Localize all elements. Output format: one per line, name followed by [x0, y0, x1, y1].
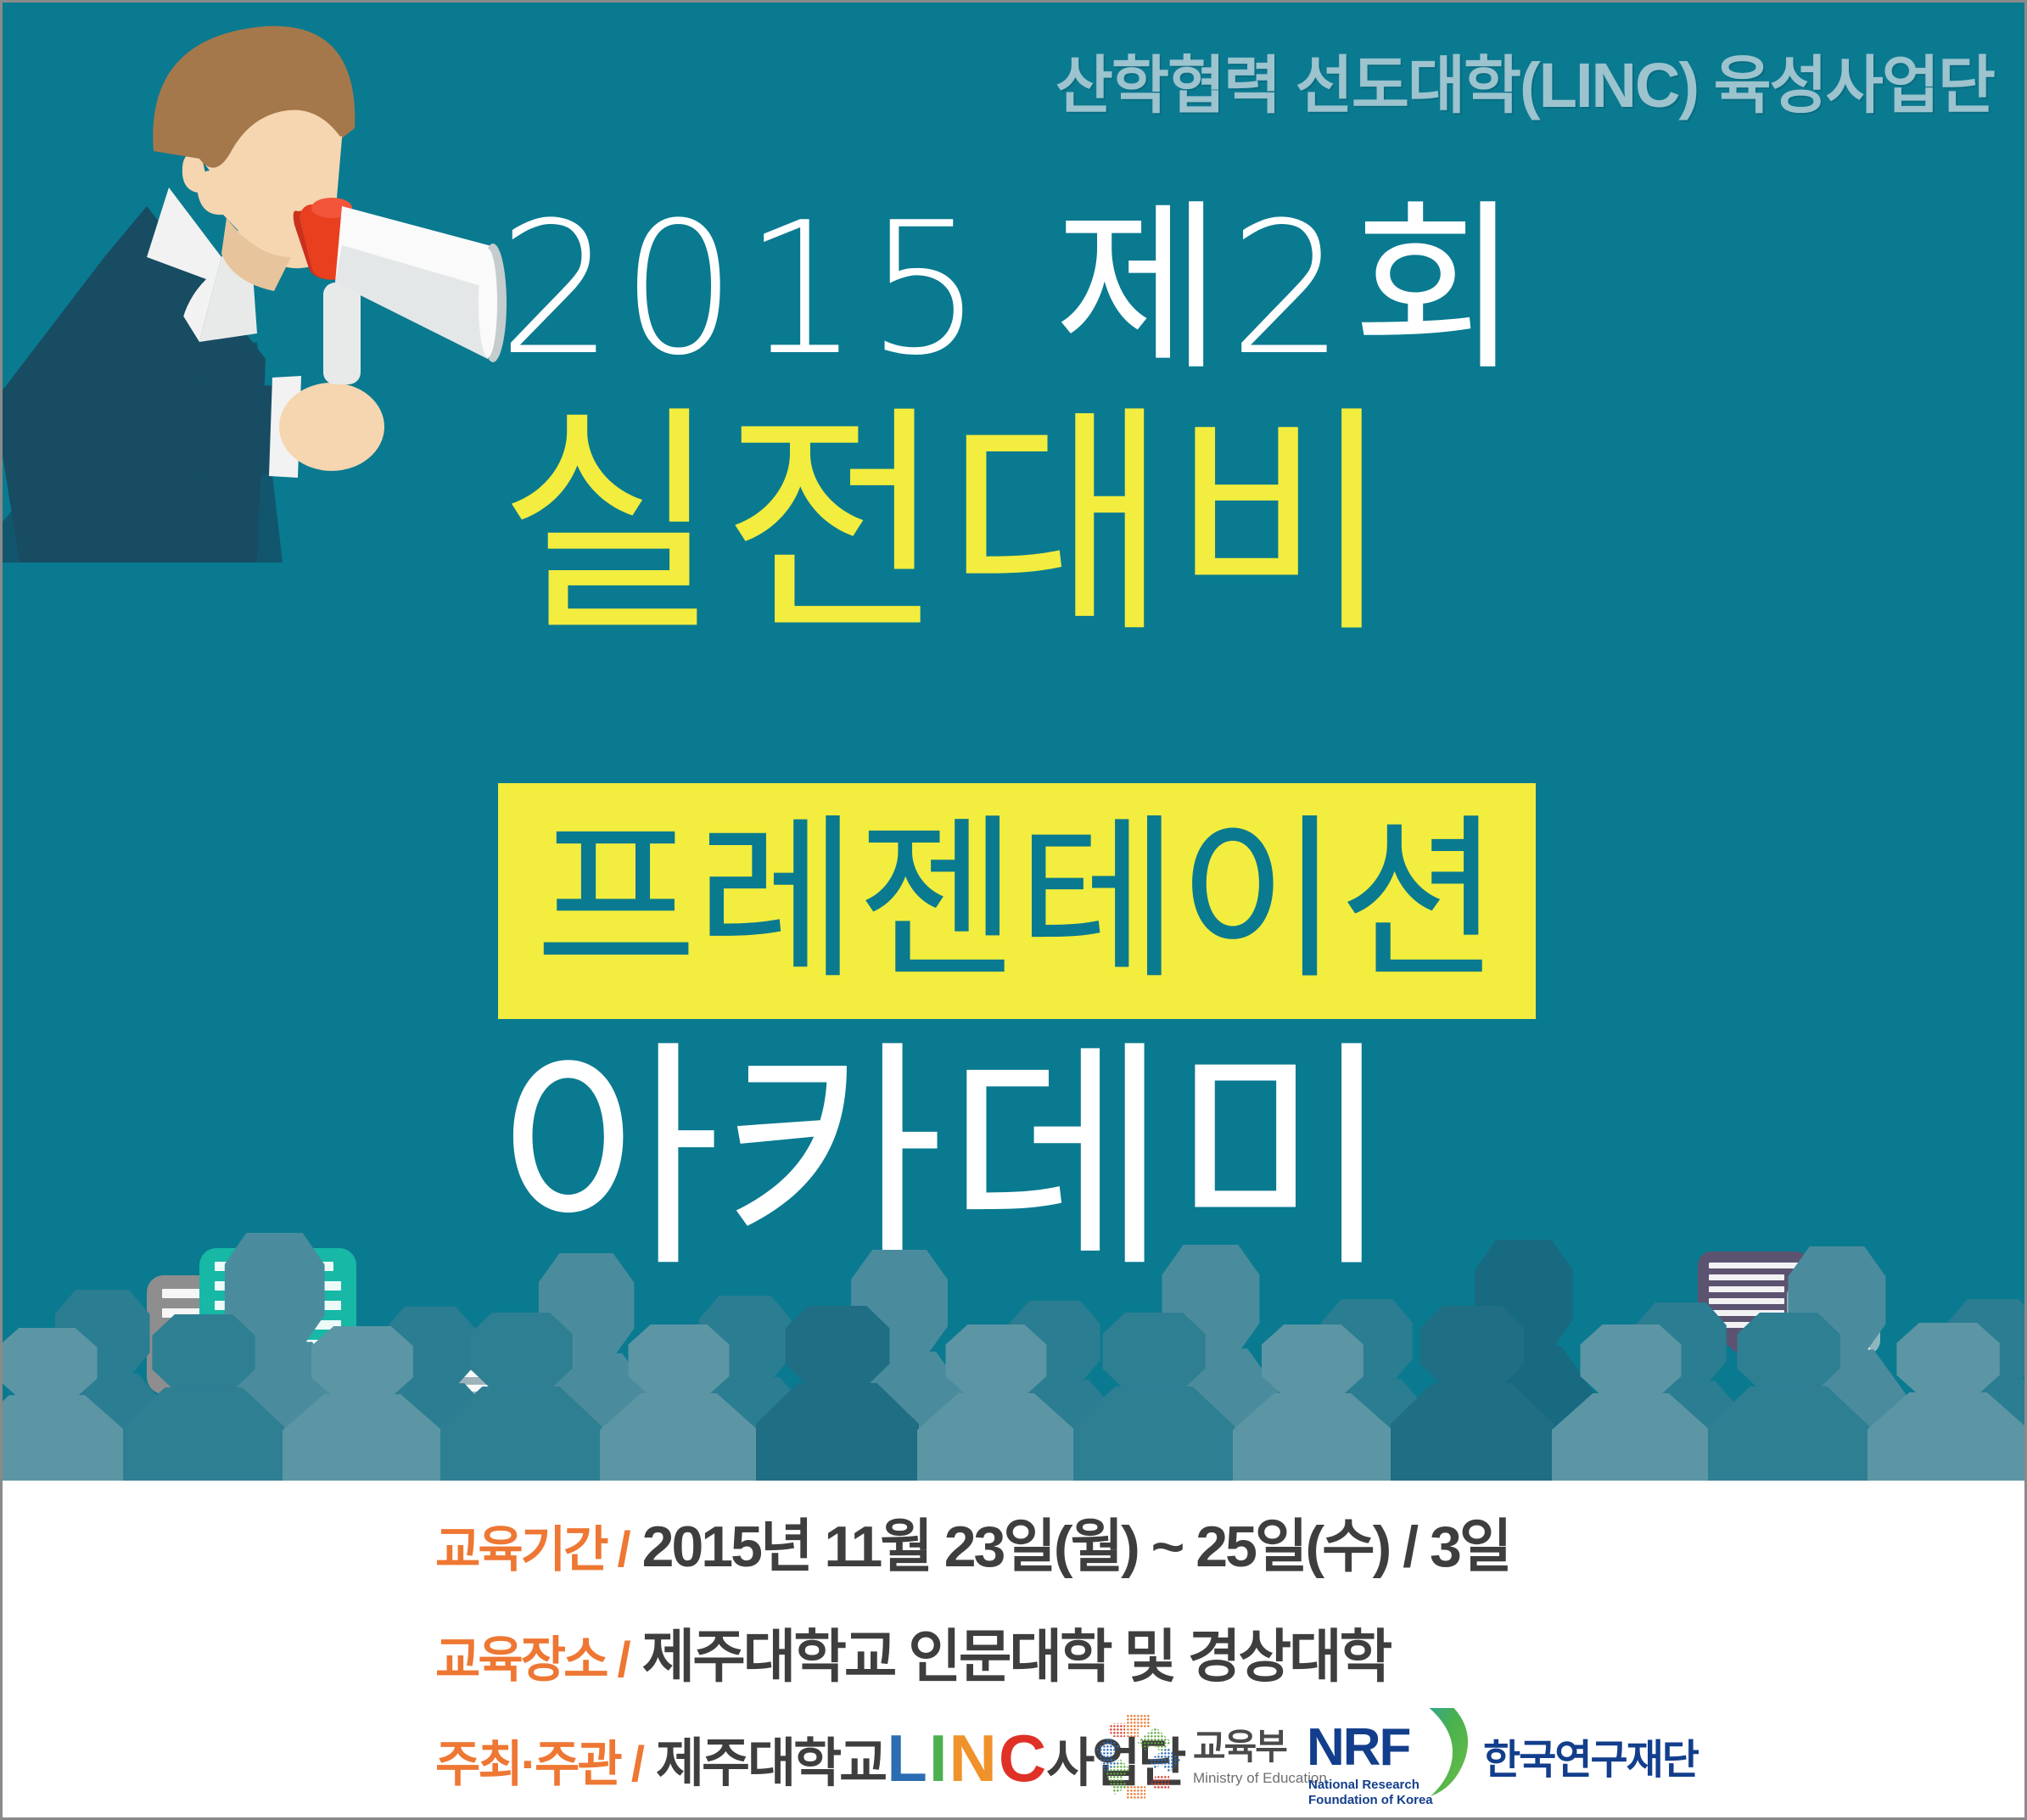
title-line-presentation: 프레젠테이션	[535, 813, 1498, 989]
nrf-mark-icon: NRF National Research Foundation of Kore…	[1307, 1708, 1476, 1803]
moe-mark-icon	[1093, 1711, 1184, 1803]
ministry-of-education-logo: 교육부 Ministry of Education	[1093, 1711, 1327, 1803]
crowd-person	[1391, 1306, 1554, 1481]
crowd-person	[1073, 1313, 1235, 1481]
nrf-subtitle: National Research Foundation of Korea	[1308, 1778, 1433, 1809]
audience-crowd	[3, 1175, 2024, 1481]
crowd-person	[1708, 1313, 1869, 1481]
linc-letter-l: L	[887, 1720, 926, 1797]
organisation-header: 산학협력 선도대학(LINC) 육성사업단	[1055, 35, 1994, 126]
nrf-subtitle-line2: Foundation of Korea	[1308, 1793, 1433, 1808]
nrf-abbreviation: NRF	[1307, 1722, 1409, 1774]
info-row-period: 교육기간 / 2015년 11월 23일(월) ~ 25일(수) / 3일	[435, 1499, 1509, 1583]
crowd-person	[283, 1326, 442, 1481]
info-label-venue: 교육장소 /	[435, 1620, 629, 1691]
crowd-person	[123, 1314, 284, 1481]
linc-letter-c: C	[999, 1720, 1044, 1797]
info-label-host: 주최·주관 /	[435, 1724, 642, 1795]
crowd-person	[1867, 1323, 2024, 1481]
info-value-period: 2015년 11월 23일(월) ~ 25일(수) / 3일	[642, 1499, 1510, 1583]
crowd-person	[1552, 1324, 1710, 1481]
info-value-venue: 제주대학교 인문대학 및 경상대학	[642, 1610, 1391, 1694]
man-with-megaphone-icon	[3, 3, 546, 563]
crowd-person	[440, 1313, 602, 1481]
nrf-label-kr: 한국연구재단	[1483, 1726, 1698, 1785]
event-poster: 산학협력 선도대학(LINC) 육성사업단 2015 제2회 실전대비 프레젠테…	[0, 0, 2027, 1820]
title-line-subject: 실전대비	[498, 399, 1550, 652]
nrf-subtitle-line1: National Research	[1308, 1778, 1433, 1793]
nrf-logo: NRF National Research Foundation of Kore…	[1307, 1708, 1698, 1803]
crowd-person	[1233, 1324, 1392, 1481]
title-highlight-band: 프레젠테이션	[498, 783, 1536, 1019]
crowd-person	[3, 1328, 126, 1481]
linc-letter-n: N	[949, 1720, 995, 1797]
poster-hero: 산학협력 선도대학(LINC) 육성사업단 2015 제2회 실전대비 프레젠테…	[3, 3, 2024, 1481]
info-label-period: 교육기간 /	[435, 1509, 629, 1581]
info-row-host: 주최·주관 / 제주대학교 LINC 사업단	[435, 1720, 1184, 1797]
crowd-person	[917, 1324, 1075, 1481]
poster-info-panel: 교육기간 / 2015년 11월 23일(월) ~ 25일(수) / 3일 교육…	[3, 1481, 2024, 1820]
info-row-venue: 교육장소 / 제주대학교 인문대학 및 경상대학	[435, 1610, 1390, 1694]
crowd-person	[756, 1306, 919, 1481]
poster-title-block: 2015 제2회 실전대비 프레젠테이션 아카데미	[498, 198, 1550, 652]
info-value-host-university: 제주대학교	[656, 1720, 885, 1796]
title-line-edition: 2015 제2회	[498, 198, 1550, 380]
linc-letter-i: I	[929, 1720, 946, 1797]
crowd-person	[600, 1324, 758, 1481]
